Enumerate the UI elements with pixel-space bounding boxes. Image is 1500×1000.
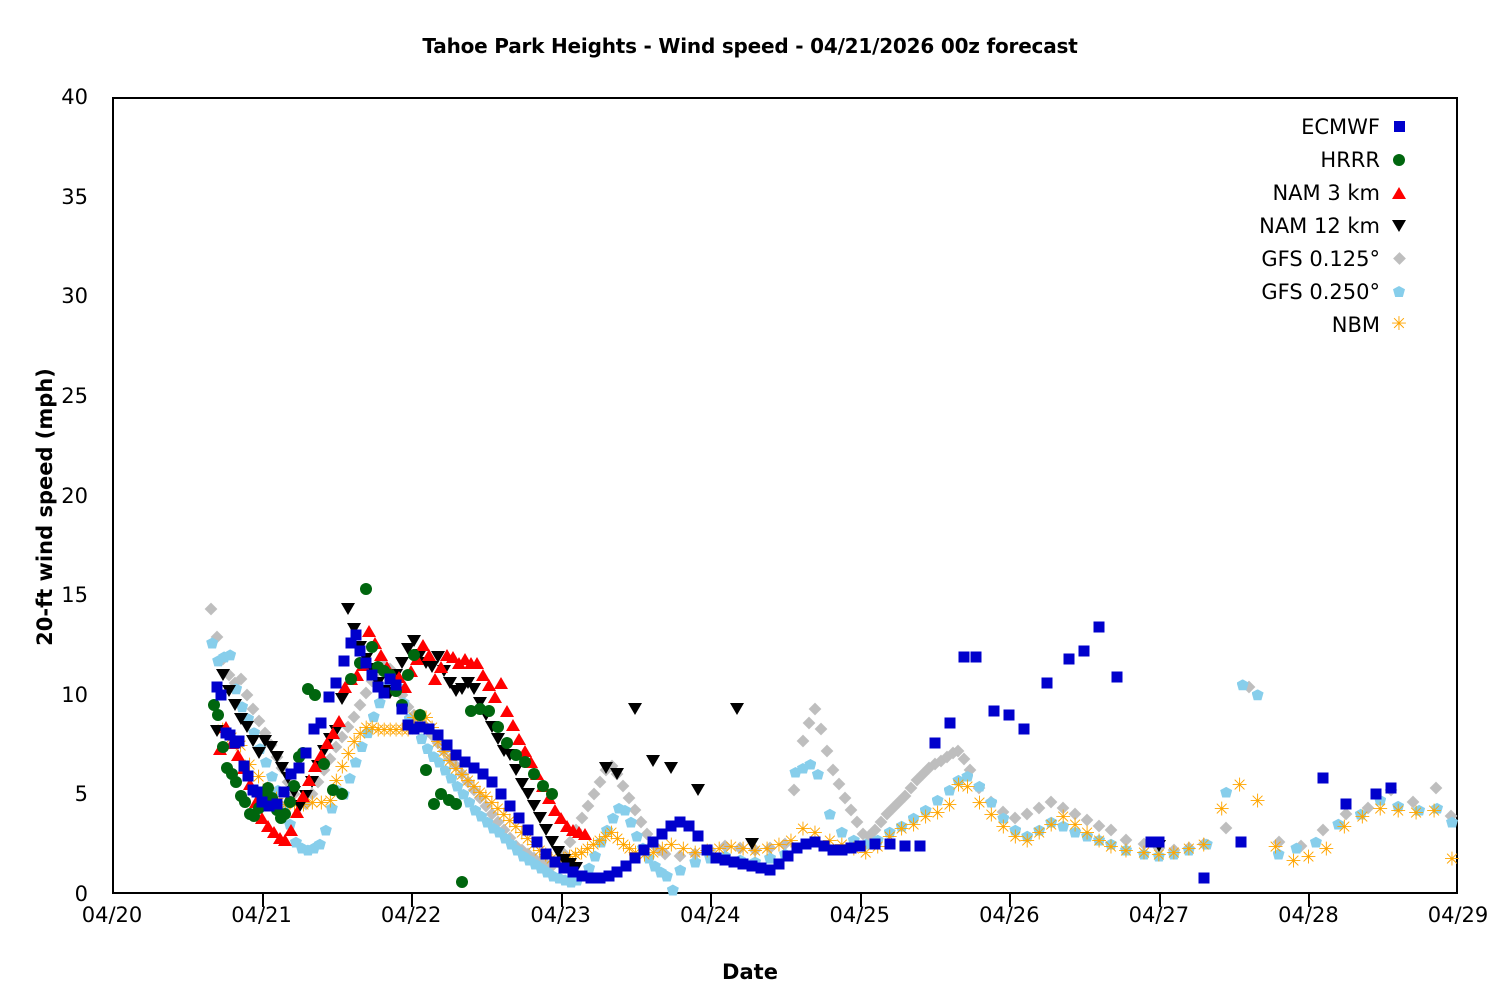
data-point — [513, 826, 530, 843]
legend-item-nam-12-km[interactable]: NAM 12 km — [1195, 209, 1410, 242]
data-point — [226, 768, 238, 780]
data-point — [434, 757, 446, 768]
data-point — [800, 839, 811, 850]
data-point — [1231, 778, 1248, 795]
data-point — [463, 797, 475, 808]
data-point — [749, 844, 762, 857]
data-point — [320, 825, 332, 836]
legend-triangle-up-icon — [1388, 182, 1410, 204]
data-point — [469, 805, 481, 816]
data-point — [821, 744, 834, 757]
data-point — [234, 735, 245, 746]
data-point — [341, 603, 355, 615]
data-point — [282, 776, 295, 789]
data-point — [346, 637, 357, 648]
data-point — [535, 863, 547, 874]
data-point — [702, 845, 713, 856]
data-point — [366, 641, 378, 653]
data-point — [323, 691, 334, 702]
data-point — [456, 768, 469, 781]
data-point — [687, 846, 704, 863]
data-point — [833, 838, 850, 855]
data-point — [462, 776, 475, 789]
data-point — [474, 703, 486, 715]
data-point — [764, 842, 777, 855]
data-point — [330, 740, 343, 753]
data-point — [398, 697, 410, 708]
data-point — [587, 788, 600, 801]
data-point — [643, 853, 655, 864]
data-point — [593, 776, 606, 789]
data-point — [554, 812, 568, 824]
data-point — [225, 737, 239, 749]
data-point — [824, 809, 836, 820]
data-point — [318, 758, 330, 770]
data-point — [394, 722, 411, 739]
data-point — [704, 844, 717, 857]
data-point — [404, 665, 418, 677]
data-point — [456, 876, 468, 888]
data-point — [422, 649, 436, 661]
data-point — [344, 673, 358, 685]
data-point — [1201, 839, 1213, 850]
data-point — [836, 827, 848, 838]
data-point — [250, 770, 267, 787]
data-point — [1091, 834, 1108, 851]
data-point — [278, 801, 290, 812]
data-point — [771, 838, 788, 855]
data-point — [243, 778, 257, 790]
data-point — [301, 747, 312, 758]
data-point — [1370, 789, 1381, 800]
data-point — [647, 838, 660, 851]
data-point — [346, 734, 363, 751]
data-point — [264, 741, 278, 753]
data-point — [255, 812, 269, 824]
data-point — [1069, 808, 1082, 821]
data-point — [515, 778, 529, 790]
data-point — [917, 810, 934, 827]
data-point — [493, 827, 505, 838]
data-point — [1009, 825, 1021, 836]
data-point — [419, 657, 433, 669]
data-point — [1213, 802, 1230, 819]
data-point — [934, 754, 947, 767]
data-point — [519, 832, 536, 849]
data-point — [457, 789, 469, 800]
data-point — [268, 792, 285, 809]
data-point — [579, 842, 596, 859]
data-point — [380, 681, 392, 692]
data-point — [663, 838, 680, 855]
data-point — [1064, 653, 1075, 664]
data-point — [1444, 852, 1461, 869]
data-point — [402, 669, 414, 681]
data-point — [595, 837, 607, 848]
data-point — [797, 734, 810, 747]
data-point — [372, 661, 384, 673]
data-point — [488, 691, 502, 703]
data-point — [246, 735, 260, 747]
data-point — [264, 738, 277, 751]
data-point — [561, 850, 578, 867]
data-point — [1094, 622, 1105, 633]
data-point — [566, 824, 580, 836]
data-point — [635, 816, 648, 829]
legend-item-gfs-0-125[interactable]: GFS 0.125° — [1195, 242, 1410, 275]
data-point — [320, 737, 334, 749]
data-point — [609, 832, 626, 849]
data-point — [416, 639, 430, 651]
data-point — [941, 798, 958, 815]
data-point — [1019, 834, 1036, 851]
data-point — [451, 781, 463, 792]
data-point — [258, 735, 272, 747]
data-point — [735, 842, 752, 859]
data-point — [832, 778, 845, 791]
data-point — [499, 833, 511, 844]
data-point — [511, 845, 523, 856]
data-point — [1105, 839, 1117, 850]
data-point — [610, 768, 624, 780]
data-point — [254, 743, 266, 754]
data-point — [290, 806, 304, 818]
data-point — [452, 657, 466, 669]
data-point — [611, 768, 624, 781]
legend-item-nam-3-km[interactable]: NAM 3 km — [1195, 176, 1410, 209]
data-point — [759, 842, 776, 859]
data-point — [1336, 820, 1353, 837]
data-point — [946, 746, 959, 759]
data-point — [266, 771, 278, 782]
data-point — [356, 741, 368, 752]
data-point — [719, 851, 731, 862]
data-point — [527, 852, 540, 865]
data-point — [539, 858, 552, 871]
data-point — [479, 709, 493, 721]
data-point — [985, 796, 998, 809]
data-point — [305, 776, 319, 788]
data-point — [294, 798, 307, 811]
data-point — [446, 651, 460, 663]
data-point — [1079, 826, 1096, 843]
legend-label: NBM — [1332, 313, 1380, 337]
data-point — [540, 849, 551, 860]
data-point — [599, 764, 612, 777]
data-point — [551, 856, 564, 869]
data-point — [389, 669, 403, 681]
data-point — [1431, 803, 1443, 814]
data-point — [465, 705, 477, 717]
data-point — [664, 762, 678, 774]
data-point — [1374, 795, 1386, 806]
data-point — [275, 762, 289, 774]
data-point — [1355, 809, 1367, 820]
data-point — [1120, 845, 1132, 856]
data-point — [764, 853, 776, 864]
data-point — [434, 661, 448, 673]
data-point — [1120, 834, 1133, 847]
data-point — [1273, 849, 1285, 860]
data-point — [507, 820, 524, 837]
data-point — [471, 786, 488, 803]
x-tick-mark — [411, 894, 413, 907]
data-point — [384, 669, 396, 681]
data-point — [473, 697, 487, 709]
data-point — [362, 625, 376, 637]
x-tick-label: 04/29 — [1428, 903, 1489, 927]
data-point — [605, 760, 618, 773]
data-point — [287, 786, 301, 798]
data-point — [213, 743, 227, 755]
data-point — [860, 839, 872, 850]
data-point — [409, 723, 420, 734]
data-point — [1138, 849, 1150, 860]
data-point — [492, 721, 504, 733]
data-point — [845, 843, 856, 854]
data-point — [575, 812, 588, 825]
data-point — [286, 769, 297, 780]
legend-label: GFS 0.250° — [1261, 280, 1380, 304]
data-point — [217, 741, 229, 753]
legend-item-hrrr[interactable]: HRRR — [1195, 143, 1410, 176]
data-point — [904, 782, 917, 795]
data-point — [297, 747, 309, 759]
data-point — [450, 760, 463, 773]
data-point — [447, 762, 464, 779]
legend-item-gfs-0-250[interactable]: GFS 0.250° — [1195, 275, 1410, 308]
data-point — [262, 782, 274, 794]
data-point — [603, 826, 620, 843]
data-point — [324, 752, 337, 765]
data-point — [401, 643, 415, 655]
data-point — [812, 769, 824, 780]
data-point — [497, 824, 510, 837]
data-point — [266, 792, 278, 804]
data-point — [1043, 818, 1060, 835]
y-tick-label: 5 — [75, 782, 88, 806]
data-point — [443, 794, 455, 806]
data-point — [547, 871, 559, 882]
data-point — [359, 653, 373, 665]
data-point — [257, 788, 269, 800]
data-point — [308, 760, 322, 772]
data-point — [295, 798, 312, 815]
data-point — [1384, 784, 1397, 797]
data-point — [412, 708, 429, 725]
data-point — [794, 822, 811, 839]
data-point — [384, 662, 397, 675]
data-point — [1081, 831, 1093, 842]
data-point — [230, 683, 242, 694]
data-point — [578, 828, 592, 840]
data-point — [928, 758, 941, 771]
data-point — [719, 840, 732, 853]
data-point — [501, 814, 518, 831]
data-point — [332, 715, 346, 727]
data-point — [1168, 849, 1180, 860]
data-point — [453, 768, 470, 785]
data-point — [531, 837, 542, 848]
data-point — [372, 664, 385, 677]
data-point — [365, 663, 379, 675]
data-point — [252, 714, 265, 727]
data-point — [944, 785, 956, 796]
data-point — [378, 665, 390, 677]
data-point — [239, 796, 251, 808]
data-point — [371, 677, 385, 689]
data-point — [212, 709, 224, 721]
data-point — [501, 737, 513, 749]
data-point — [1067, 818, 1084, 835]
data-point — [388, 722, 405, 739]
data-point — [424, 720, 441, 737]
data-point — [649, 861, 661, 872]
y-tick-label: 40 — [61, 85, 88, 109]
data-point — [275, 812, 287, 824]
data-point — [246, 702, 259, 715]
data-point — [396, 688, 409, 701]
data-point — [553, 873, 565, 884]
data-point — [327, 784, 339, 796]
data-point — [293, 751, 305, 763]
data-point — [228, 676, 241, 689]
data-point — [284, 819, 296, 830]
data-point — [659, 848, 672, 861]
data-point — [302, 845, 314, 856]
legend-item-nbm[interactable]: NBM — [1195, 308, 1410, 341]
data-point — [396, 699, 408, 711]
data-point — [270, 751, 284, 763]
data-point — [480, 800, 493, 813]
data-point — [374, 649, 388, 661]
data-point — [206, 637, 218, 648]
data-point — [617, 780, 630, 793]
data-point — [995, 820, 1012, 837]
legend-label: ECMWF — [1301, 115, 1380, 139]
data-point — [1057, 802, 1070, 815]
data-point — [296, 843, 308, 854]
data-point — [416, 733, 428, 744]
data-point — [589, 851, 601, 862]
data-point — [342, 720, 355, 733]
data-point — [450, 798, 462, 810]
data-point — [362, 727, 374, 738]
data-point — [230, 776, 242, 788]
data-point — [563, 858, 577, 870]
legend-asterisk-icon — [1388, 314, 1410, 336]
data-point — [214, 722, 231, 739]
data-point — [210, 631, 223, 644]
data-point — [862, 830, 875, 843]
data-point — [545, 836, 559, 848]
data-point — [565, 877, 577, 888]
data-point — [603, 871, 614, 882]
data-point — [445, 773, 457, 784]
data-point — [704, 853, 716, 864]
data-point — [601, 825, 613, 836]
data-point — [288, 780, 300, 792]
data-point — [299, 790, 313, 802]
data-point — [573, 846, 590, 863]
data-point — [653, 844, 666, 857]
data-point — [398, 681, 412, 693]
data-point — [228, 699, 242, 711]
data-point — [1220, 822, 1233, 835]
data-point — [1362, 802, 1375, 815]
data-point — [1081, 814, 1094, 827]
data-point — [1167, 844, 1180, 857]
data-point — [241, 758, 258, 775]
data-point — [494, 677, 508, 689]
data-point — [848, 835, 860, 846]
data-point — [646, 755, 660, 767]
data-point — [581, 800, 594, 813]
data-point — [1019, 723, 1030, 734]
data-point — [1385, 783, 1396, 794]
data-point — [1045, 796, 1058, 809]
data-point — [450, 749, 461, 760]
data-point — [836, 845, 847, 856]
data-point — [782, 834, 799, 851]
data-point — [267, 826, 281, 838]
data-point — [558, 863, 569, 874]
data-point — [569, 824, 582, 837]
data-point — [952, 744, 965, 757]
data-point — [211, 681, 222, 692]
data-point — [216, 689, 227, 700]
data-point — [577, 871, 589, 882]
data-point — [518, 745, 532, 757]
data-point — [455, 683, 469, 695]
data-point — [667, 885, 679, 896]
data-point — [756, 863, 767, 874]
data-point — [426, 728, 439, 741]
data-point — [240, 721, 254, 733]
data-point — [258, 726, 271, 739]
data-point — [370, 722, 387, 739]
y-tick-label: 15 — [61, 583, 88, 607]
data-point — [519, 756, 531, 768]
data-point — [428, 798, 440, 810]
data-point — [684, 821, 695, 832]
data-point — [500, 705, 514, 717]
data-point — [344, 773, 356, 784]
data-point — [734, 855, 746, 866]
data-point — [380, 661, 394, 673]
y-tick-label: 20 — [61, 484, 88, 508]
legend-item-ecmwf[interactable]: ECMWF — [1195, 110, 1410, 143]
data-point — [809, 702, 822, 715]
data-point — [432, 736, 445, 749]
data-point — [983, 808, 1000, 825]
data-point — [950, 778, 967, 795]
data-point — [815, 722, 828, 735]
data-point — [336, 730, 349, 743]
data-point — [932, 795, 944, 806]
data-point — [402, 700, 415, 713]
data-point — [961, 771, 973, 782]
data-point — [482, 679, 496, 691]
data-point — [458, 653, 472, 665]
data-point — [597, 830, 614, 847]
data-point — [533, 812, 547, 824]
data-point — [720, 855, 731, 866]
data-point — [1007, 830, 1024, 847]
data-point — [431, 651, 445, 663]
data-point — [491, 816, 504, 829]
data-point — [238, 761, 249, 772]
